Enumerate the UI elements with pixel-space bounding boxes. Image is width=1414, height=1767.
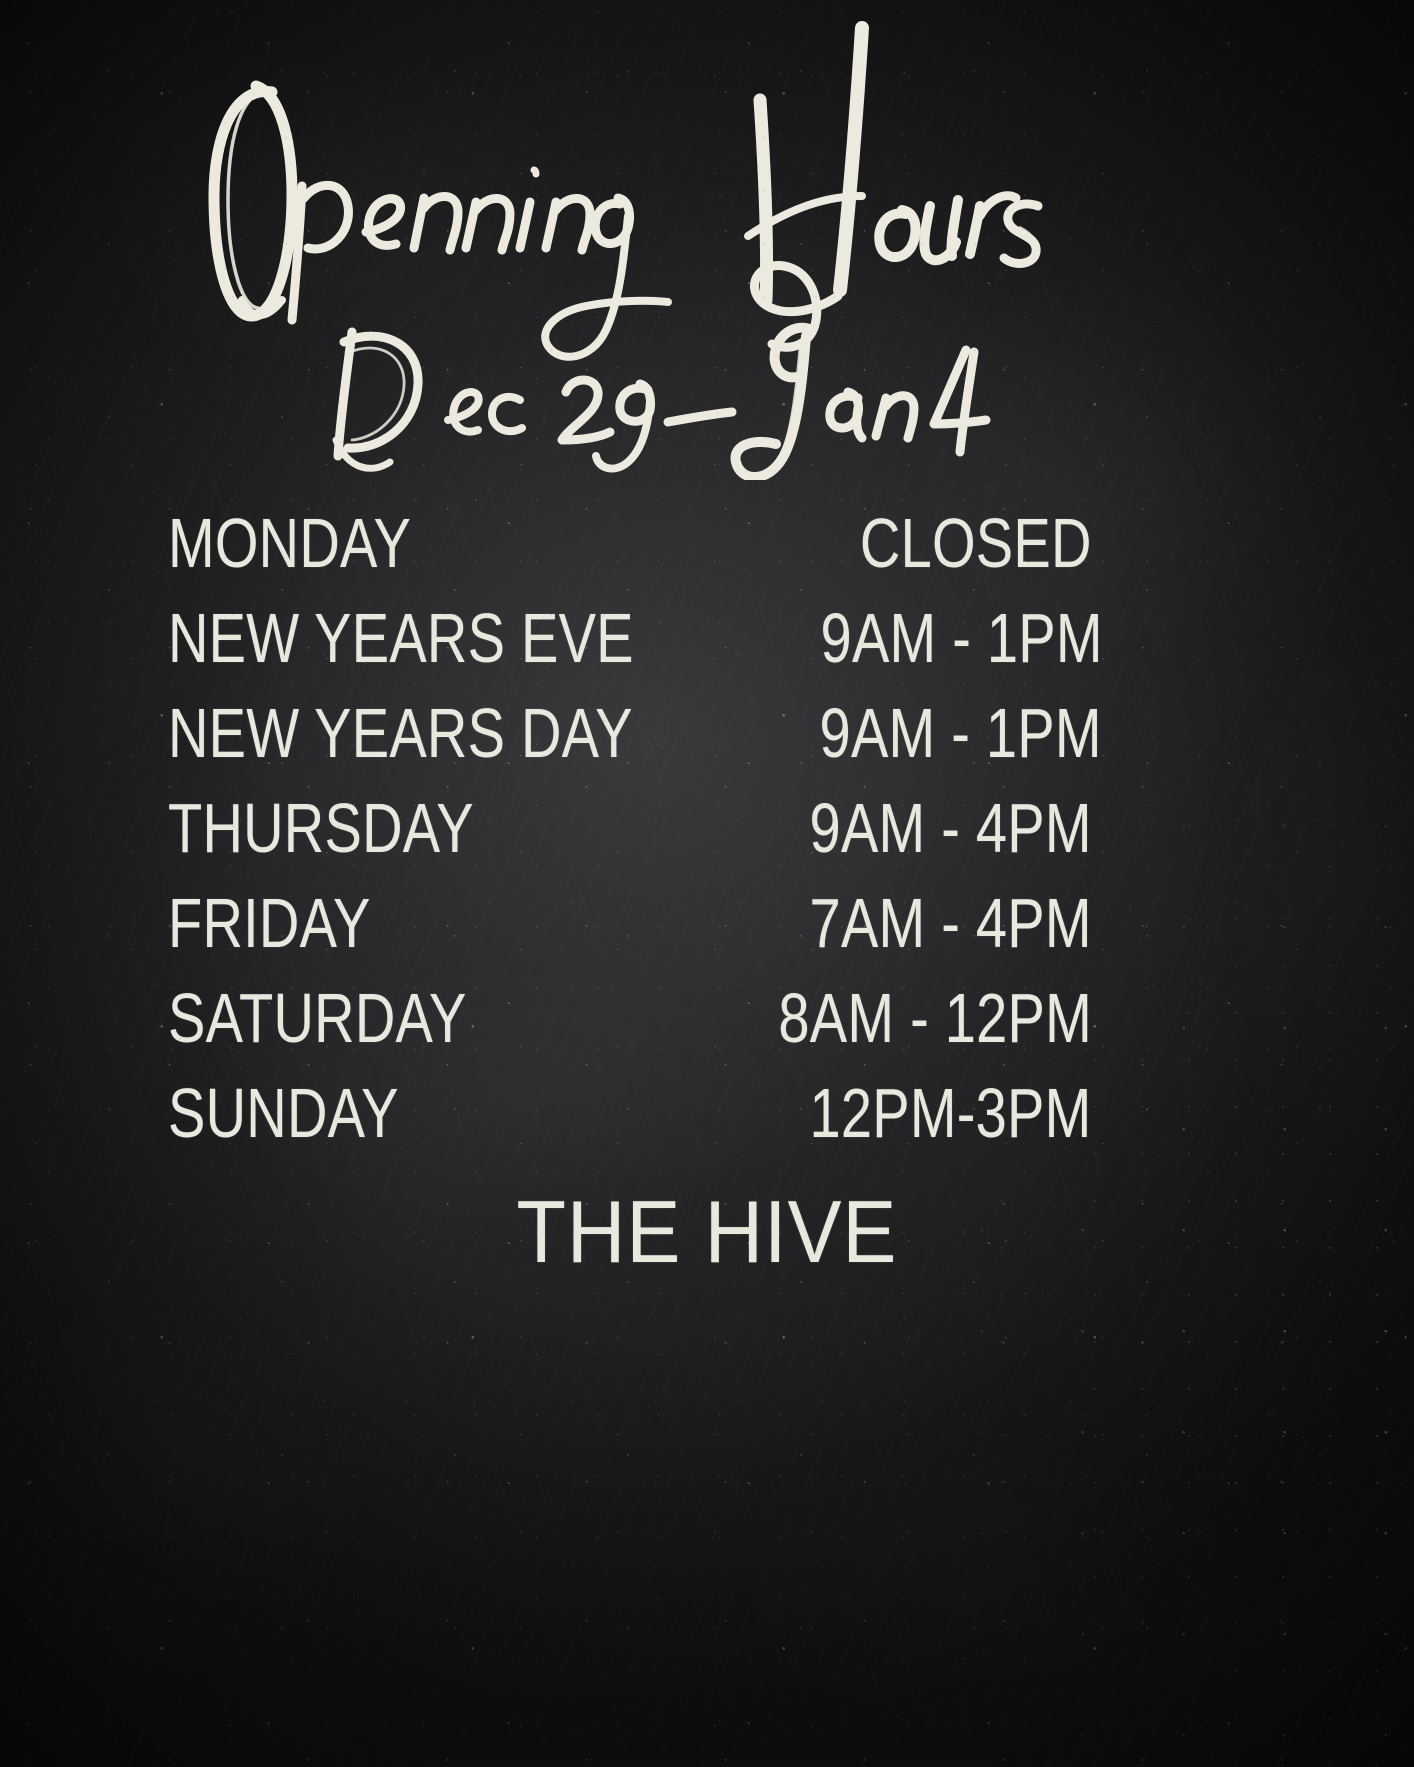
day-label: THURSDAY [168,793,474,863]
table-row: NEW YEARS EVE 9AM - 1PM [168,603,1092,698]
brand-name-container: THE HIVE [0,1188,1414,1276]
hours-value: 8AM - 12PM [778,983,1092,1053]
poster-headline [0,0,1414,480]
brand-name: THE HIVE [517,1188,898,1276]
day-label: SUNDAY [168,1078,399,1148]
table-row: SUNDAY 12PM-3PM [168,1078,1092,1173]
hours-value: 7AM - 4PM [810,888,1092,958]
hours-value: 9AM - 4PM [810,793,1092,863]
opening-hours-table: MONDAY CLOSED NEW YEARS EVE 9AM - 1PM NE… [168,508,1092,1173]
hours-value: 12PM-3PM [810,1078,1092,1148]
hours-value: 9AM - 1PM [819,698,1101,768]
opening-hours-poster: MONDAY CLOSED NEW YEARS EVE 9AM - 1PM NE… [0,0,1414,1767]
headline-script-artwork [0,0,1414,480]
day-label: NEW YEARS EVE [168,603,634,673]
day-label: FRIDAY [168,888,371,958]
table-row: SATURDAY 8AM - 12PM [168,983,1092,1078]
day-label: SATURDAY [168,983,467,1053]
table-row: MONDAY CLOSED [168,508,1092,603]
day-label: MONDAY [168,508,411,578]
hours-value: CLOSED [860,508,1092,578]
day-label: NEW YEARS DAY [168,698,633,768]
table-row: FRIDAY 7AM - 4PM [168,888,1092,983]
table-row: THURSDAY 9AM - 4PM [168,793,1092,888]
hours-value: 9AM - 1PM [821,603,1103,673]
table-row: NEW YEARS DAY 9AM - 1PM [168,698,1092,793]
